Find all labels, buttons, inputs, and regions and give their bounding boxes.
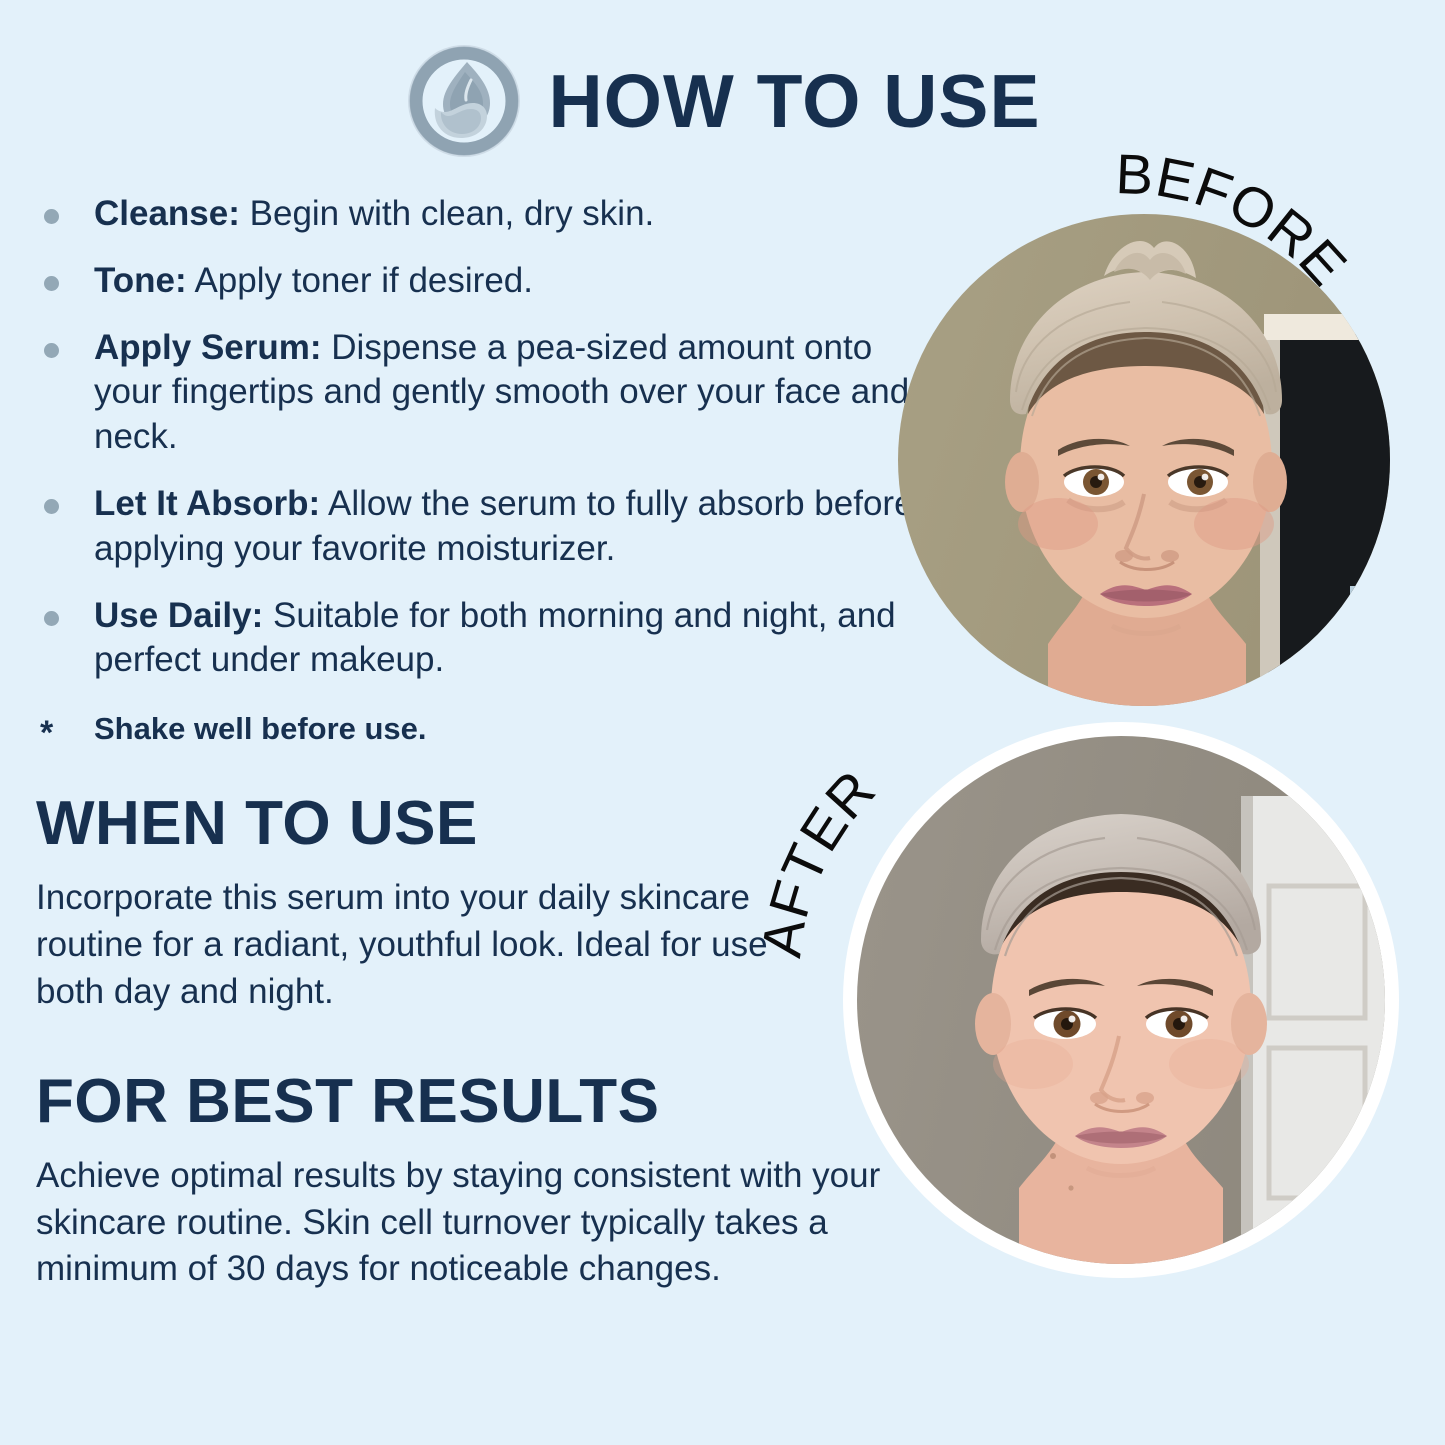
- step-label: Cleanse:: [94, 194, 240, 233]
- step-label: Use Daily:: [94, 596, 263, 635]
- steps-list: Cleanse: Begin with clean, dry skin. Ton…: [36, 192, 916, 683]
- header: HOW TO USE: [0, 42, 1445, 160]
- bullet-icon: [44, 276, 59, 291]
- section-body-when-to-use: Incorporate this serum into your daily s…: [36, 875, 776, 1015]
- note-text: Shake well before use.: [94, 711, 427, 746]
- step-label: Tone:: [94, 261, 187, 300]
- after-photo: [843, 722, 1399, 1278]
- bullet-icon: [44, 343, 59, 358]
- list-item: Use Daily: Suitable for both morning and…: [36, 594, 916, 684]
- step-text: Apply toner if desired.: [187, 261, 533, 300]
- bullet-icon: [44, 209, 59, 224]
- list-item: Apply Serum: Dispense a pea-sized amount…: [36, 326, 916, 460]
- step-text: Begin with clean, dry skin.: [240, 194, 654, 233]
- list-item: Let It Absorb: Allow the serum to fully …: [36, 482, 916, 572]
- page-title: HOW TO USE: [549, 64, 1041, 139]
- section-heading-for-best-results: FOR BEST RESULTS: [36, 1071, 916, 1133]
- asterisk-icon: *: [40, 711, 53, 755]
- section-body-for-best-results: Achieve optimal results by staying consi…: [36, 1153, 916, 1293]
- list-item: Tone: Apply toner if desired.: [36, 259, 916, 304]
- water-droplet-logo-icon: [405, 42, 523, 160]
- bullet-icon: [44, 611, 59, 626]
- infographic-page: HOW TO USE Cleanse: Begin with clean, dr…: [0, 0, 1445, 1445]
- bullet-icon: [44, 499, 59, 514]
- list-item: Cleanse: Begin with clean, dry skin.: [36, 192, 916, 237]
- shake-well-note: * Shake well before use.: [36, 709, 916, 749]
- before-photo: [898, 214, 1390, 706]
- step-label: Let It Absorb:: [94, 484, 320, 523]
- instructions-column: Cleanse: Begin with clean, dry skin. Ton…: [36, 192, 916, 1293]
- section-heading-when-to-use: WHEN TO USE: [36, 793, 916, 855]
- step-label: Apply Serum:: [94, 328, 322, 367]
